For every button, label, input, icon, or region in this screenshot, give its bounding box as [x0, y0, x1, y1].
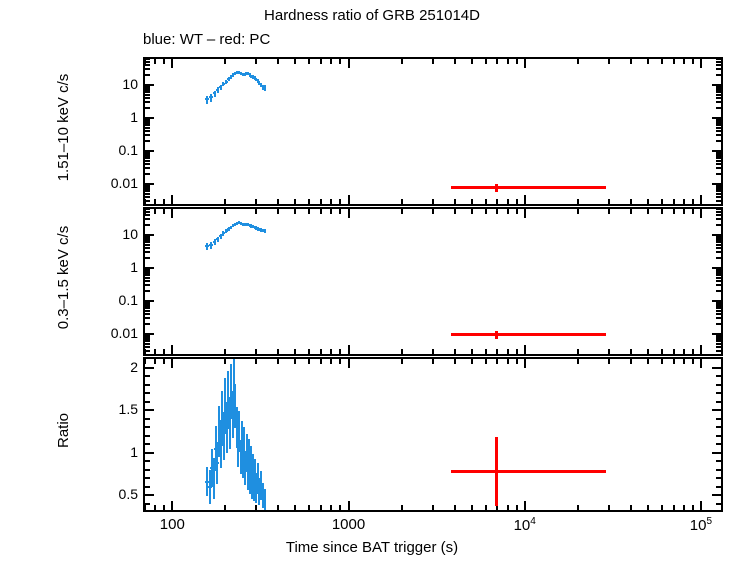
y-tick-minor-right — [716, 307, 721, 309]
x-tick-minor — [496, 199, 498, 204]
y-tick-label: 2 — [88, 359, 138, 375]
x-tick-minor-top — [471, 209, 473, 214]
y-tick-minor — [145, 130, 150, 132]
y-tick-minor — [145, 310, 150, 312]
x-tick-minor — [255, 505, 257, 510]
pc-point-yerror — [495, 184, 498, 192]
y-tick-minor — [145, 140, 150, 142]
y-tick-major — [145, 150, 154, 152]
y-tick-major-right — [712, 234, 721, 236]
y-tick-minor-right — [716, 74, 721, 76]
x-tick-minor-top — [454, 209, 456, 214]
x-tick-minor-top — [485, 59, 487, 64]
y-tick-minor-right — [716, 68, 721, 70]
y-tick-minor — [145, 307, 150, 309]
x-tick-minor — [330, 199, 332, 204]
x-tick-minor — [647, 505, 649, 510]
y-tick-minor-right — [716, 280, 721, 282]
y-tick-minor-right — [716, 384, 721, 386]
pc-point-xerror — [451, 470, 607, 473]
x-tick-minor-top — [401, 209, 403, 214]
x-tick-minor — [320, 505, 322, 510]
y-tick-minor — [145, 323, 150, 325]
x-tick-minor-top — [432, 359, 434, 364]
y-tick-minor — [145, 274, 150, 276]
x-tick-minor — [224, 199, 226, 204]
x-tick-major — [700, 501, 702, 510]
y-tick-minor — [145, 97, 150, 99]
y-tick-minor-right — [716, 208, 721, 210]
x-tick-minor-top — [507, 359, 509, 364]
x-tick-minor — [308, 349, 310, 354]
y-tick-major — [145, 409, 154, 411]
wt-point-yerror — [220, 85, 222, 90]
y-tick-label: 0.1 — [88, 142, 138, 158]
x-tick-minor — [516, 505, 518, 510]
x-tick-minor-top — [330, 59, 332, 64]
y-tick-minor — [145, 384, 150, 386]
x-tick-minor — [401, 505, 403, 510]
x-tick-minor-top — [144, 59, 146, 64]
x-tick-minor-top — [255, 359, 257, 364]
y-tick-minor — [145, 241, 150, 243]
x-tick-minor-top — [144, 359, 146, 364]
y-tick-major — [145, 183, 154, 185]
x-tick-minor-top — [294, 359, 296, 364]
y-tick-minor-right — [716, 218, 721, 220]
y-tick-minor — [145, 375, 150, 377]
y-tick-minor-right — [716, 244, 721, 246]
x-tick-minor — [432, 349, 434, 354]
x-tick-minor-top — [647, 209, 649, 214]
x-tick-minor-top — [647, 359, 649, 364]
y-tick-minor-right — [716, 97, 721, 99]
y-tick-minor-right — [716, 200, 721, 202]
y-tick-minor — [145, 160, 150, 162]
y-tick-minor-right — [716, 277, 721, 279]
y-tick-minor — [145, 193, 150, 195]
y-tick-minor — [145, 392, 150, 394]
y-tick-minor — [145, 122, 150, 124]
y-tick-minor — [145, 89, 150, 91]
x-tick-minor — [277, 505, 279, 510]
x-tick-minor-top — [277, 59, 279, 64]
y-tick-minor — [145, 127, 150, 129]
x-tick-minor-top — [471, 359, 473, 364]
x-tick-minor — [577, 199, 579, 204]
y-tick-minor — [145, 74, 150, 76]
x-tick-minor-top — [454, 359, 456, 364]
wt-point-yerror — [217, 237, 219, 242]
y-tick-minor-right — [716, 272, 721, 274]
x-tick-minor-top — [224, 59, 226, 64]
x-tick-minor — [255, 349, 257, 354]
x-tick-minor — [432, 199, 434, 204]
y-tick-minor-right — [716, 350, 721, 352]
x-tick-minor-top — [224, 359, 226, 364]
y-tick-major — [145, 234, 154, 236]
chart-title: Hardness ratio of GRB 251014D — [0, 7, 744, 24]
y-tick-minor-right — [716, 418, 721, 420]
y-tick-minor — [145, 64, 150, 66]
y-tick-minor — [145, 272, 150, 274]
wt-point-yerror — [222, 82, 224, 86]
x-tick-minor-top — [154, 59, 156, 64]
x-tick-minor — [224, 505, 226, 510]
x-tick-minor-top — [294, 209, 296, 214]
y-tick-minor — [145, 313, 150, 315]
y-tick-minor-right — [716, 64, 721, 66]
x-tick-minor — [294, 199, 296, 204]
y-tick-minor-right — [716, 58, 721, 60]
x-tick-minor-top — [308, 359, 310, 364]
x-tick-minor-top — [577, 59, 579, 64]
x-tick-minor-top — [163, 59, 165, 64]
x-tick-minor-top — [496, 59, 498, 64]
x-tick-minor-top — [507, 59, 509, 64]
panel-soft-band — [143, 207, 723, 356]
panel-hard-band — [143, 57, 723, 206]
y-tick-minor-right — [716, 284, 721, 286]
y-axis-title: 0.3–1.5 keV c/s — [55, 203, 72, 352]
y-tick-minor — [145, 224, 150, 226]
x-tick-major-top — [171, 59, 173, 68]
x-tick-major — [700, 345, 702, 354]
y-tick-minor-right — [716, 257, 721, 259]
x-tick-minor-top — [608, 59, 610, 64]
x-tick-minor-top — [683, 359, 685, 364]
x-tick-minor — [144, 349, 146, 354]
x-tick-minor — [673, 349, 675, 354]
x-tick-major-top — [700, 209, 702, 218]
x-tick-minor-top — [516, 209, 518, 214]
x-tick-minor — [683, 199, 685, 204]
x-tick-minor — [308, 199, 310, 204]
y-tick-minor — [145, 338, 150, 340]
x-tick-minor-top — [339, 59, 341, 64]
x-tick-minor — [485, 199, 487, 204]
y-tick-major — [145, 494, 154, 496]
pc-point-yerror — [495, 331, 498, 339]
y-tick-minor — [145, 305, 150, 307]
y-tick-minor-right — [716, 460, 721, 462]
x-tick-minor-top — [683, 209, 685, 214]
y-tick-minor-right — [716, 190, 721, 192]
y-tick-minor — [145, 155, 150, 157]
y-tick-minor-right — [716, 163, 721, 165]
x-tick-minor — [608, 505, 610, 510]
panel-soft-band-plotarea — [145, 209, 721, 354]
chart-legend-text: blue: WT – red: PC — [143, 31, 270, 48]
x-tick-minor — [154, 349, 156, 354]
panel-ratio-plotarea — [145, 359, 721, 510]
y-tick-minor-right — [716, 338, 721, 340]
y-tick-minor — [145, 107, 150, 109]
x-tick-minor-top — [661, 209, 663, 214]
x-tick-minor — [683, 349, 685, 354]
y-tick-minor-right — [716, 61, 721, 63]
x-tick-minor-top — [485, 359, 487, 364]
x-tick-minor-top — [401, 59, 403, 64]
y-tick-major — [145, 117, 154, 119]
y-tick-minor — [145, 134, 150, 136]
x-tick-minor-top — [277, 209, 279, 214]
y-tick-major — [145, 452, 154, 454]
y-axis-title: 1.51–10 keV c/s — [55, 53, 72, 202]
y-tick-minor-right — [716, 122, 721, 124]
y-tick-minor-right — [716, 247, 721, 249]
y-tick-minor — [145, 401, 150, 403]
x-tick-minor-top — [330, 359, 332, 364]
y-tick-minor-right — [716, 340, 721, 342]
x-tick-minor-top — [496, 359, 498, 364]
y-tick-minor — [145, 280, 150, 282]
x-tick-minor-top — [330, 209, 332, 214]
x-tick-minor-top — [673, 359, 675, 364]
y-tick-label: 10 — [88, 76, 138, 92]
x-tick-minor-top — [224, 209, 226, 214]
x-tick-minor — [339, 505, 341, 510]
y-tick-minor — [145, 68, 150, 70]
y-tick-minor — [145, 460, 150, 462]
y-tick-minor-right — [716, 241, 721, 243]
x-tick-minor-top — [516, 359, 518, 364]
x-tick-minor — [485, 505, 487, 510]
x-tick-minor-top — [163, 359, 165, 364]
y-tick-minor-right — [716, 426, 721, 428]
y-tick-minor — [145, 188, 150, 190]
x-tick-minor — [661, 505, 663, 510]
y-tick-label: 0.01 — [88, 325, 138, 341]
y-tick-minor — [145, 218, 150, 220]
x-tick-minor — [339, 349, 341, 354]
x-tick-minor — [516, 349, 518, 354]
y-tick-minor-right — [716, 486, 721, 488]
y-tick-minor-right — [716, 343, 721, 345]
x-axis-title: Time since BAT trigger (s) — [0, 539, 744, 556]
y-tick-major-right — [712, 333, 721, 335]
y-tick-minor-right — [716, 101, 721, 103]
wt-point-yerror — [210, 94, 212, 102]
y-tick-minor — [145, 284, 150, 286]
x-tick-label: 105 — [690, 516, 712, 534]
x-tick-minor-top — [432, 209, 434, 214]
y-tick-minor-right — [716, 153, 721, 155]
y-tick-major-right — [712, 150, 721, 152]
y-tick-major — [145, 333, 154, 335]
y-tick-minor — [145, 277, 150, 279]
y-tick-major-right — [712, 267, 721, 269]
y-tick-minor — [145, 469, 150, 471]
x-tick-major-top — [524, 59, 526, 68]
x-tick-major — [348, 195, 350, 204]
x-tick-minor — [630, 505, 632, 510]
y-tick-minor-right — [716, 188, 721, 190]
x-tick-minor — [339, 199, 341, 204]
x-tick-minor — [401, 349, 403, 354]
panel-ratio — [143, 357, 723, 512]
x-tick-minor — [471, 505, 473, 510]
x-tick-minor — [647, 199, 649, 204]
x-tick-minor-top — [608, 209, 610, 214]
x-tick-minor-top — [255, 59, 257, 64]
y-tick-minor-right — [716, 503, 721, 505]
y-tick-minor-right — [716, 196, 721, 198]
wt-point-yerror — [220, 234, 222, 239]
x-tick-minor — [485, 349, 487, 354]
y-tick-minor-right — [716, 89, 721, 91]
y-tick-minor — [145, 251, 150, 253]
x-tick-minor — [692, 199, 694, 204]
x-tick-minor — [673, 505, 675, 510]
y-tick-label: 1 — [88, 259, 138, 275]
x-tick-minor — [294, 505, 296, 510]
x-tick-minor-top — [454, 59, 456, 64]
y-tick-major-right — [712, 452, 721, 454]
x-tick-minor — [608, 199, 610, 204]
x-tick-minor — [692, 349, 694, 354]
x-tick-minor — [516, 199, 518, 204]
y-tick-minor-right — [716, 127, 721, 129]
y-tick-minor — [145, 214, 150, 216]
y-tick-minor-right — [716, 274, 721, 276]
y-tick-minor — [145, 124, 150, 126]
y-tick-minor — [145, 343, 150, 345]
y-tick-minor-right — [716, 401, 721, 403]
x-tick-minor — [647, 349, 649, 354]
x-tick-minor — [144, 505, 146, 510]
y-tick-minor-right — [716, 91, 721, 93]
wt-point-yerror — [210, 242, 212, 249]
x-tick-minor — [163, 199, 165, 204]
x-tick-major-top — [700, 359, 702, 368]
x-tick-minor-top — [683, 59, 685, 64]
x-tick-major-top — [171, 359, 173, 368]
y-tick-minor — [145, 167, 150, 169]
x-tick-minor — [454, 349, 456, 354]
x-tick-minor-top — [339, 359, 341, 364]
x-tick-minor — [577, 505, 579, 510]
wt-point-yerror — [222, 231, 224, 235]
x-tick-minor-top — [432, 59, 434, 64]
x-tick-minor-top — [647, 59, 649, 64]
x-tick-minor — [507, 349, 509, 354]
wt-point-yerror — [214, 91, 216, 97]
x-tick-major-top — [348, 209, 350, 218]
wt-point-yerror — [264, 229, 266, 233]
x-tick-major — [171, 195, 173, 204]
x-tick-major-top — [700, 59, 702, 68]
x-tick-minor-top — [144, 209, 146, 214]
y-tick-major-right — [712, 494, 721, 496]
x-tick-minor — [577, 349, 579, 354]
y-tick-major-right — [712, 183, 721, 185]
x-tick-minor — [454, 505, 456, 510]
y-tick-minor — [145, 244, 150, 246]
x-tick-major — [524, 501, 526, 510]
wt-point-yerror — [264, 85, 266, 90]
y-tick-minor-right — [716, 317, 721, 319]
y-tick-minor-right — [716, 443, 721, 445]
y-tick-minor-right — [716, 392, 721, 394]
x-tick-minor-top — [673, 209, 675, 214]
x-tick-major-top — [524, 209, 526, 218]
y-tick-minor — [145, 94, 150, 96]
x-tick-minor-top — [308, 59, 310, 64]
x-tick-minor — [294, 349, 296, 354]
y-tick-minor — [145, 303, 150, 305]
chart-root: Hardness ratio of GRB 251014D blue: WT –… — [0, 0, 744, 566]
y-tick-minor — [145, 247, 150, 249]
pc-point-xerror — [451, 186, 607, 189]
y-tick-minor — [145, 173, 150, 175]
y-tick-major-right — [712, 84, 721, 86]
y-tick-major-right — [712, 300, 721, 302]
wt-point-yerror — [264, 489, 266, 510]
x-tick-major — [348, 501, 350, 510]
x-tick-minor — [401, 199, 403, 204]
x-tick-minor — [692, 505, 694, 510]
x-tick-minor-top — [320, 59, 322, 64]
x-tick-minor — [683, 505, 685, 510]
y-tick-minor-right — [716, 167, 721, 169]
x-tick-major — [171, 345, 173, 354]
y-tick-label: 0.1 — [88, 292, 138, 308]
y-tick-minor — [145, 418, 150, 420]
y-tick-minor-right — [716, 155, 721, 157]
x-tick-major — [524, 195, 526, 204]
y-tick-major — [145, 84, 154, 86]
x-tick-minor — [496, 505, 498, 510]
x-tick-major — [348, 345, 350, 354]
x-tick-minor — [154, 505, 156, 510]
y-tick-minor-right — [716, 224, 721, 226]
y-tick-minor-right — [716, 239, 721, 241]
wt-point-yerror — [217, 87, 219, 92]
y-tick-minor-right — [716, 313, 721, 315]
x-tick-major-top — [171, 209, 173, 218]
x-tick-minor — [330, 349, 332, 354]
y-tick-minor-right — [716, 303, 721, 305]
x-tick-major — [524, 345, 526, 354]
x-tick-minor — [661, 199, 663, 204]
x-tick-minor — [144, 199, 146, 204]
x-tick-label: 104 — [514, 516, 536, 534]
y-tick-minor-right — [716, 211, 721, 213]
x-tick-minor — [163, 505, 165, 510]
x-tick-minor-top — [516, 59, 518, 64]
x-tick-minor-top — [320, 359, 322, 364]
y-tick-minor — [145, 486, 150, 488]
y-tick-minor-right — [716, 310, 721, 312]
x-tick-minor-top — [673, 59, 675, 64]
y-tick-minor-right — [716, 214, 721, 216]
y-tick-minor-right — [716, 157, 721, 159]
x-tick-minor-top — [294, 59, 296, 64]
x-tick-major-top — [348, 59, 350, 68]
y-tick-minor-right — [716, 346, 721, 348]
y-tick-major — [145, 300, 154, 302]
y-tick-minor — [145, 91, 150, 93]
y-tick-minor-right — [716, 251, 721, 253]
x-tick-minor — [507, 505, 509, 510]
wt-point-yerror — [214, 239, 216, 245]
x-tick-minor-top — [630, 209, 632, 214]
y-tick-minor — [145, 435, 150, 437]
y-tick-label: 10 — [88, 226, 138, 242]
x-tick-minor-top — [608, 359, 610, 364]
x-tick-minor-top — [577, 359, 579, 364]
